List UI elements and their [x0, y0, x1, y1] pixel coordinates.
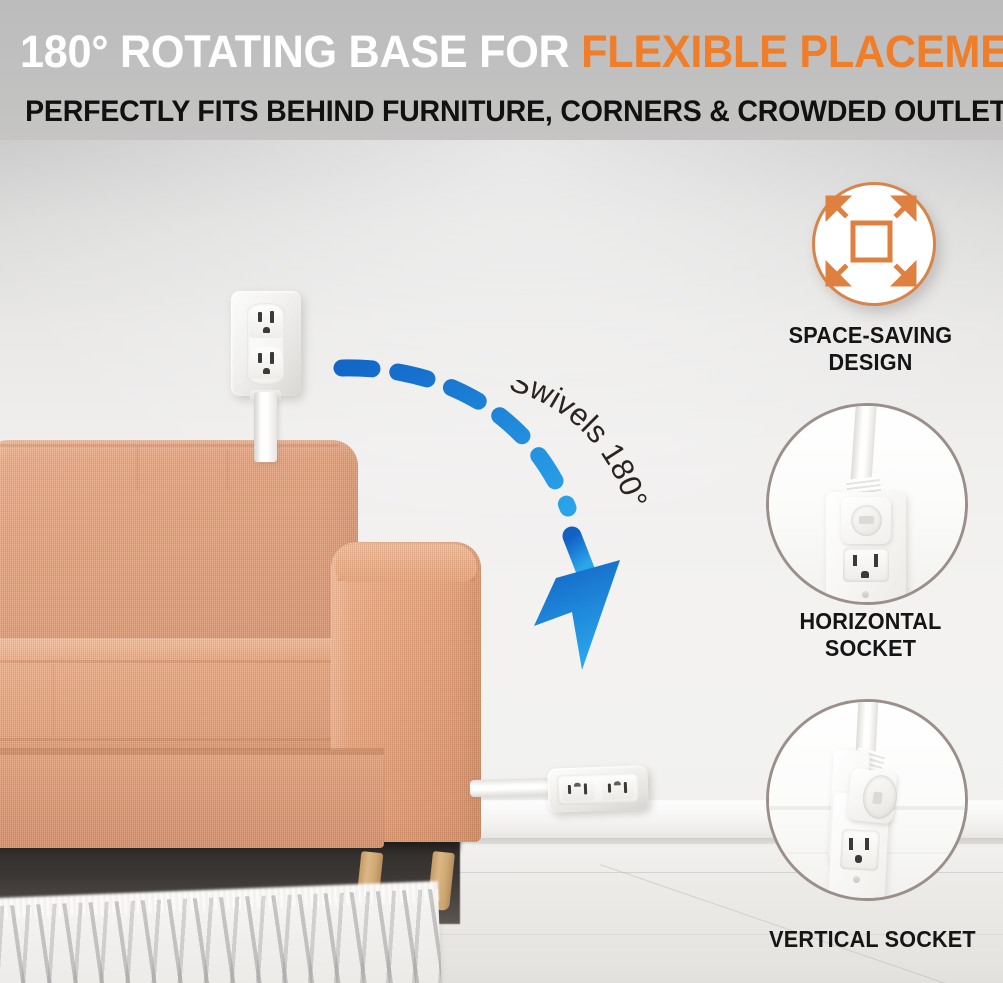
horizontal-socket-label-line1: HORIZONTAL	[765, 608, 977, 635]
space-saving-badge	[812, 182, 936, 306]
sofa-back-cushion	[0, 440, 358, 655]
space-saving-label: SPACE-SAVING DESIGN	[765, 322, 977, 376]
vertical-socket-label: VERTICAL SOCKET	[753, 926, 993, 953]
headline-white-part: 180° ROTATING BASE FOR	[20, 26, 581, 77]
strip-socket-right	[602, 778, 635, 800]
product-infographic: Swivels 180° 180° ROTATING BASE FOR FLEX…	[0, 0, 1003, 983]
swivel-arc-arrow	[320, 340, 650, 680]
page-headline: 180° ROTATING BASE FOR FLEXIBLE PLACEMEN…	[20, 28, 983, 76]
power-cord-floor	[470, 778, 554, 797]
power-cord-vertical	[254, 392, 277, 462]
horizontal-socket-photo	[766, 403, 968, 605]
expand-square-arrows-icon	[815, 185, 927, 297]
outlet-socket-bottom	[249, 347, 283, 379]
sofa-base	[0, 750, 384, 848]
space-saving-label-line2: DESIGN	[765, 349, 977, 376]
headline-orange-part: FLEXIBLE PLACEMENT	[581, 26, 1003, 77]
page-subheadline: PERFECTLY FITS BEHIND FURNITURE, CORNERS…	[25, 96, 978, 128]
horizontal-socket-label-line2: SOCKET	[765, 635, 977, 662]
floor-power-strip	[547, 765, 648, 812]
space-saving-label-line1: SPACE-SAVING	[765, 322, 977, 349]
strip-socket-left	[562, 779, 595, 801]
header-band: 180° ROTATING BASE FOR FLEXIBLE PLACEMEN…	[0, 0, 1003, 140]
vertical-socket-label-line1: VERTICAL SOCKET	[753, 926, 993, 953]
horizontal-socket-label: HORIZONTAL SOCKET	[765, 608, 977, 662]
sofa-base-edge	[0, 748, 384, 755]
shag-rug	[0, 889, 442, 983]
outlet-socket-top	[249, 306, 283, 338]
vertical-socket-photo	[766, 699, 968, 901]
